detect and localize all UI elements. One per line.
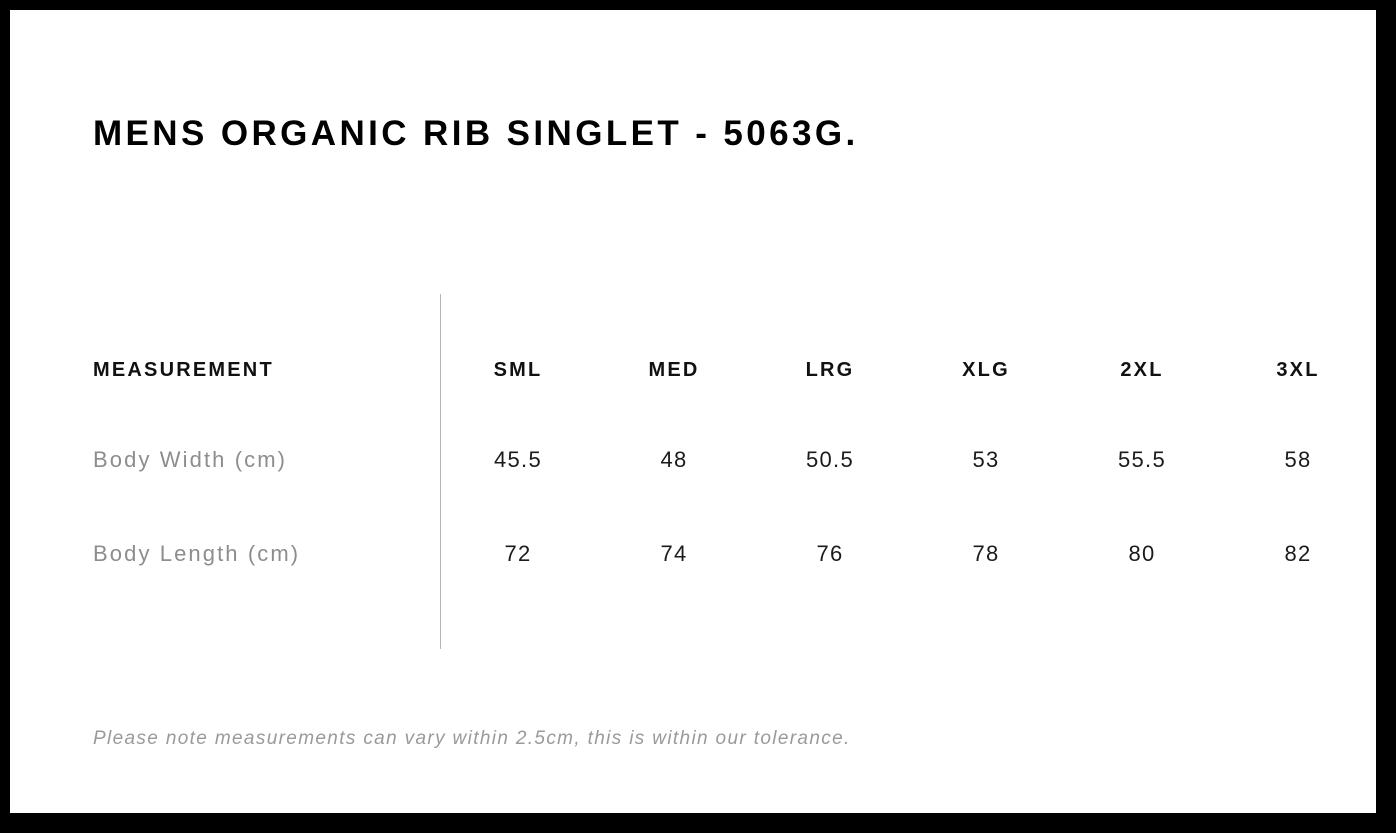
cell-body-length-3xl: 82 bbox=[1220, 541, 1376, 567]
row-label-body-length: Body Length (cm) bbox=[10, 541, 440, 567]
cell-body-length-xlg: 78 bbox=[908, 541, 1064, 567]
cell-body-width-2xl: 55.5 bbox=[1064, 447, 1220, 473]
column-header-med: MED bbox=[596, 359, 752, 382]
size-chart-sheet: MENS ORGANIC RIB SINGLET - 5063G. MEASUR… bbox=[10, 10, 1376, 813]
cell-body-length-lrg: 76 bbox=[752, 541, 908, 567]
column-header-lrg: LRG bbox=[752, 359, 908, 382]
cell-body-width-sml: 45.5 bbox=[440, 447, 596, 473]
cell-body-length-sml: 72 bbox=[440, 541, 596, 567]
column-header-3xl: 3XL bbox=[1220, 359, 1376, 382]
column-header-measurement: MEASUREMENT bbox=[10, 359, 440, 382]
column-header-sml: SML bbox=[440, 359, 596, 382]
chart-border-frame: MENS ORGANIC RIB SINGLET - 5063G. MEASUR… bbox=[0, 0, 1396, 833]
table-row: Body Length (cm) 72 74 76 78 80 82 bbox=[10, 534, 1376, 574]
cell-body-width-lrg: 50.5 bbox=[752, 447, 908, 473]
cell-body-length-med: 74 bbox=[596, 541, 752, 567]
cell-body-length-2xl: 80 bbox=[1064, 541, 1220, 567]
table-header-row: MEASUREMENT SML MED LRG XLG 2XL 3XL bbox=[10, 350, 1376, 390]
size-chart-table: MEASUREMENT SML MED LRG XLG 2XL 3XL Body… bbox=[10, 294, 1376, 649]
cell-body-width-xlg: 53 bbox=[908, 447, 1064, 473]
cell-body-width-med: 48 bbox=[596, 447, 752, 473]
page-title: MENS ORGANIC RIB SINGLET - 5063G. bbox=[93, 113, 859, 155]
row-label-body-width: Body Width (cm) bbox=[10, 447, 440, 473]
tolerance-footnote: Please note measurements can vary within… bbox=[93, 728, 851, 750]
cell-body-width-3xl: 58 bbox=[1220, 447, 1376, 473]
column-header-xlg: XLG bbox=[908, 359, 1064, 382]
table-row: Body Width (cm) 45.5 48 50.5 53 55.5 58 bbox=[10, 440, 1376, 480]
column-header-2xl: 2XL bbox=[1064, 359, 1220, 382]
